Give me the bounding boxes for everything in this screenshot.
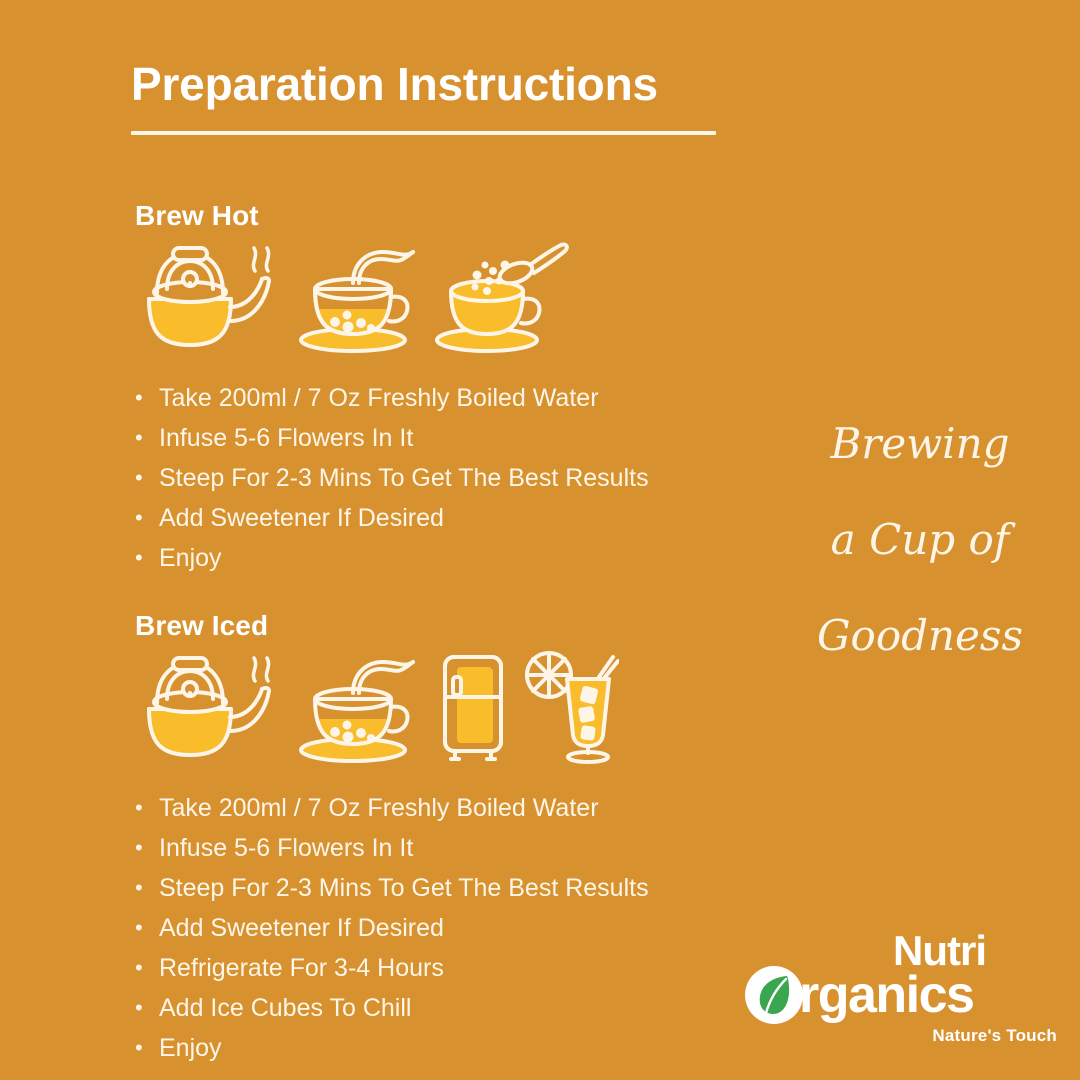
kettle-icon <box>135 237 283 360</box>
list-item: Infuse 5-6 Flowers In It <box>135 418 775 458</box>
slogan-line-1: Brewing <box>760 396 1080 492</box>
list-item: Steep For 2-3 Mins To Get The Best Resul… <box>135 868 775 908</box>
section-brew-hot: Brew Hot <box>135 200 775 578</box>
section-brew-iced: Brew Iced <box>135 610 775 1068</box>
logo-tagline: Nature's Touch <box>932 1026 1057 1046</box>
steps-list-brew-iced: Take 200ml / 7 Oz Freshly Boiled Water I… <box>135 788 775 1068</box>
refrigerator-icon <box>431 647 515 770</box>
section-heading-brew-hot: Brew Hot <box>135 200 775 232</box>
page-title: Preparation Instructions <box>131 58 731 111</box>
list-item: Infuse 5-6 Flowers In It <box>135 828 775 868</box>
title-underline-rule <box>131 131 716 135</box>
logo-word-organics: rganics <box>799 969 973 1021</box>
list-item: Add Sweetener If Desired <box>135 908 775 948</box>
preparation-instructions-page: Preparation Instructions Brew Hot <box>0 0 1080 1080</box>
logo-organics-row: rganics <box>745 966 973 1024</box>
list-item: Take 200ml / 7 Oz Freshly Boiled Water <box>135 788 775 828</box>
list-item: Enjoy <box>135 1028 775 1068</box>
list-item: Add Ice Cubes To Chill <box>135 988 775 1028</box>
list-item: Enjoy <box>135 538 775 578</box>
slogan-line-3: Goodness <box>760 588 1080 684</box>
steps-list-brew-hot: Take 200ml / 7 Oz Freshly Boiled Water I… <box>135 378 775 578</box>
teacup-with-spoon-icon <box>431 237 571 360</box>
iced-drink-glass-icon <box>523 647 619 770</box>
teacup-with-flowers-icon <box>291 647 423 770</box>
list-item: Take 200ml / 7 Oz Freshly Boiled Water <box>135 378 775 418</box>
slogan-line-2: a Cup of <box>760 492 1080 588</box>
brewing-slogan: Brewing a Cup of Goodness <box>760 396 1080 684</box>
list-item: Add Sweetener If Desired <box>135 498 775 538</box>
icon-row-brew-hot <box>135 242 775 360</box>
brand-logo: Nutri rganics Nature's Touch <box>745 930 1065 1055</box>
teacup-with-flowers-icon <box>291 237 423 360</box>
list-item: Steep For 2-3 Mins To Get The Best Resul… <box>135 458 775 498</box>
list-item: Refrigerate For 3-4 Hours <box>135 948 775 988</box>
title-block: Preparation Instructions <box>131 58 731 135</box>
kettle-icon <box>135 647 283 770</box>
icon-row-brew-iced <box>135 652 775 770</box>
leaf-icon <box>745 966 803 1024</box>
section-heading-brew-iced: Brew Iced <box>135 610 775 642</box>
